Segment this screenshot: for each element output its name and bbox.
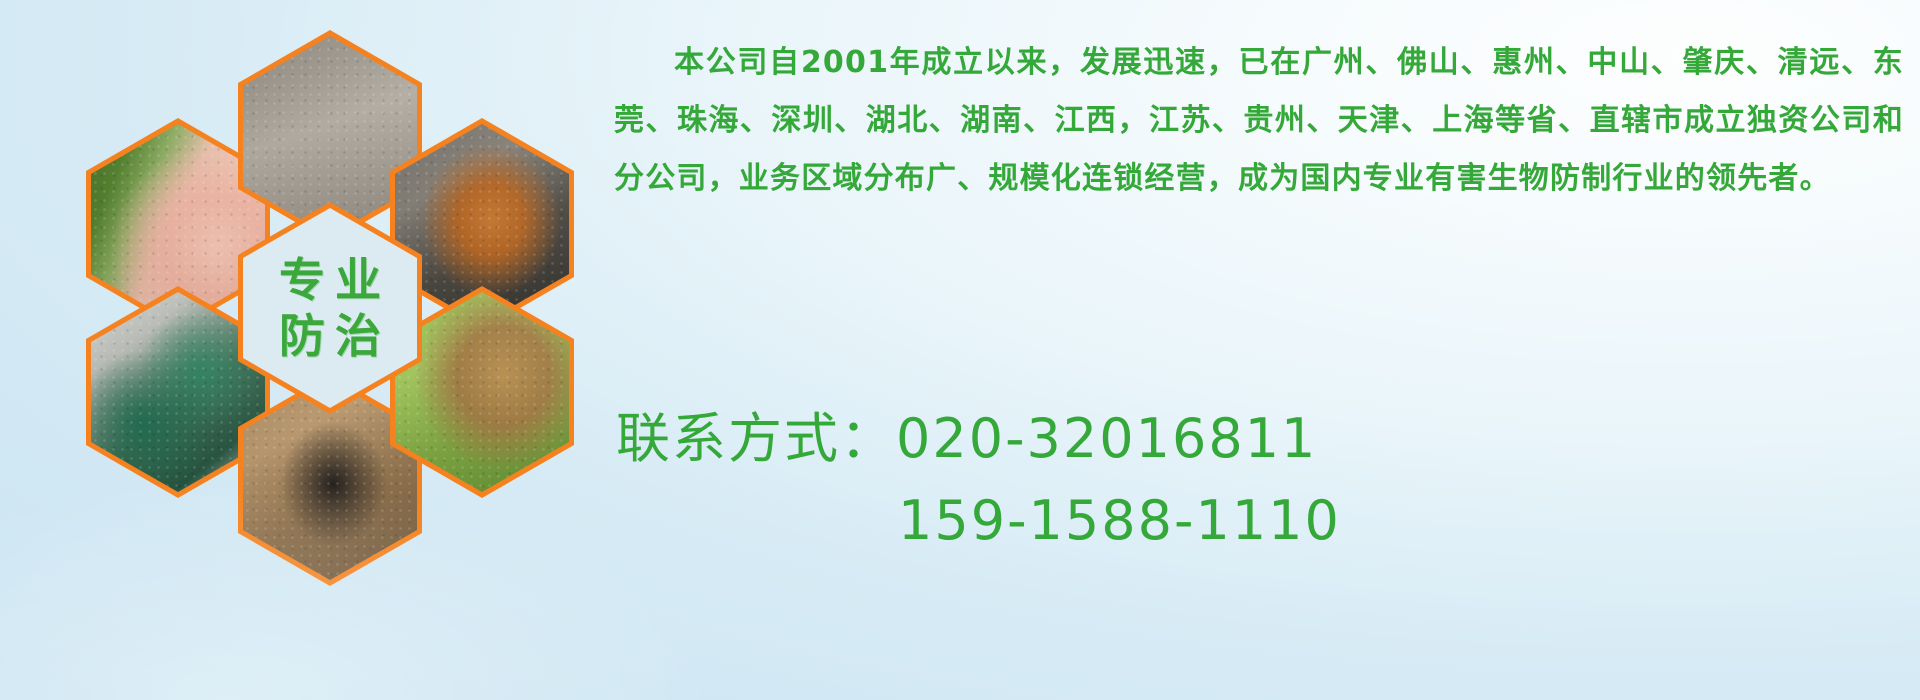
contact-block: 联系方式：020-32016811 159-1588-1110 [616,398,1716,562]
banner-root: 专业 防治 本公司自2001年成立以来，发展迅速，已在广州、佛山、惠州、中山、肇… [0,0,1920,700]
hexagon-cluster: 专业 防治 [86,14,586,574]
contact-line-secondary[interactable]: 159-1588-1110 [616,480,1716,562]
phone-primary[interactable]: 020-32016811 [896,407,1317,470]
company-intro: 本公司自2001年成立以来，发展迅速，已在广州、佛山、惠州、中山、肇庆、清远、东… [614,34,1904,208]
hex-badge-center-clip: 专业 防治 [243,208,417,408]
phone-secondary[interactable]: 159-1588-1110 [898,489,1341,552]
contact-label: 联系方式： [616,407,896,470]
badge-line-2: 防治 [269,308,391,364]
badge-line-1: 专业 [269,252,391,308]
company-intro-paragraph: 本公司自2001年成立以来，发展迅速，已在广州、佛山、惠州、中山、肇庆、清远、东… [614,34,1904,208]
contact-line-primary[interactable]: 联系方式：020-32016811 [616,398,1716,480]
